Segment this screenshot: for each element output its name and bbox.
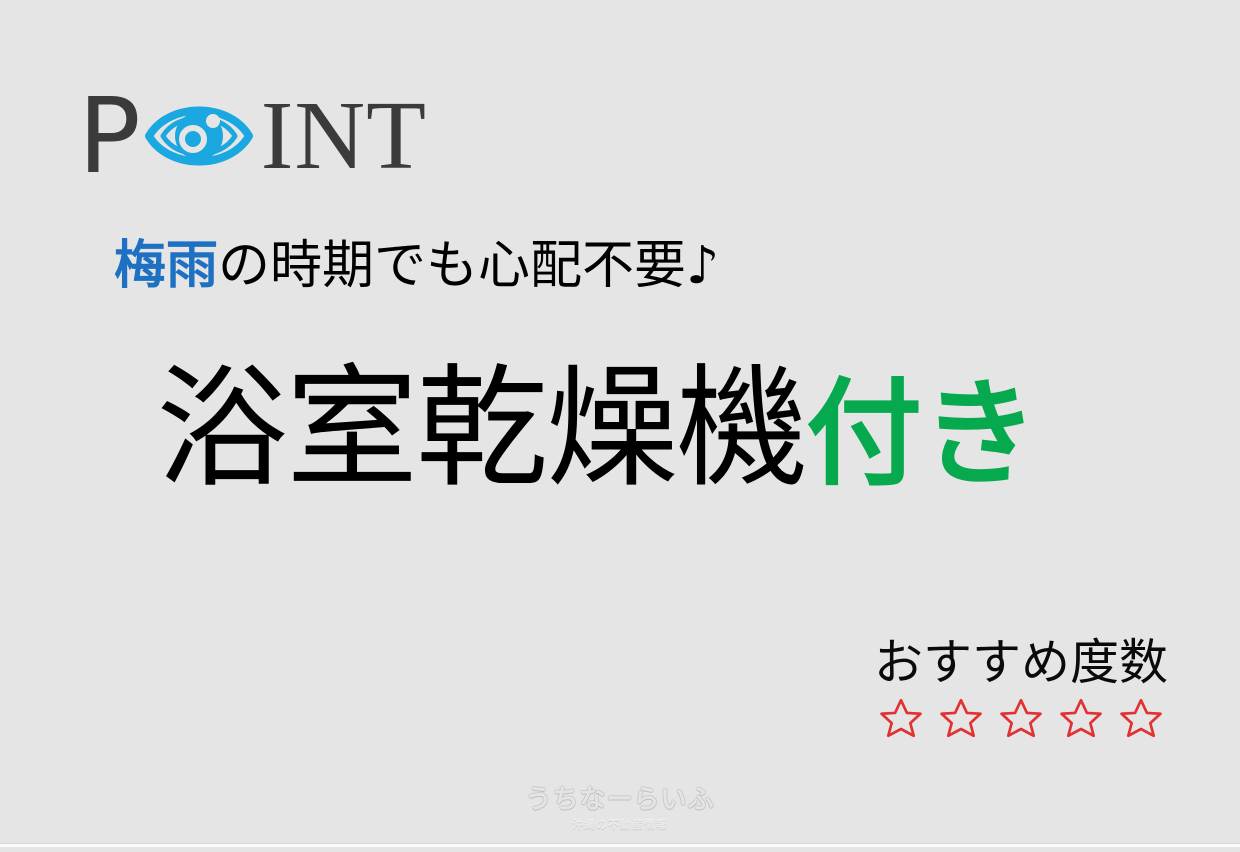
subtitle-accent: 梅雨	[114, 236, 218, 296]
point-letters-int: INT	[261, 87, 427, 185]
star-icon	[879, 696, 923, 740]
subtitle-rest: の時期でも心配不要♪	[218, 236, 719, 296]
headline-suffix: 付き	[806, 367, 1038, 502]
star-icon	[939, 696, 983, 740]
headline: 浴室乾燥機付き	[156, 352, 1038, 508]
headline-main: 浴室乾燥機	[156, 352, 806, 506]
star-icon	[1119, 696, 1163, 740]
watermark-main-text: うちなーらいふ	[0, 786, 1240, 815]
eye-icon	[141, 88, 257, 184]
watermark: うちなーらいふ 沖縄の不動産情報	[0, 786, 1240, 832]
star-icon	[1059, 696, 1103, 740]
point-letter-p: P	[78, 84, 143, 188]
point-header: P INT	[78, 88, 427, 184]
rating-label: おすすめ度数	[874, 636, 1168, 690]
slide-canvas: P INT 梅雨の時期でも心配不要♪ 浴室乾燥機付き おすすめ度数	[0, 0, 1240, 852]
rating-block: おすすめ度数	[874, 636, 1168, 740]
watermark-sub-text: 沖縄の不動産情報	[0, 816, 1240, 832]
subtitle: 梅雨の時期でも心配不要♪	[114, 238, 719, 294]
rating-stars	[874, 696, 1168, 740]
bottom-divider	[0, 843, 1240, 847]
star-icon	[999, 696, 1043, 740]
